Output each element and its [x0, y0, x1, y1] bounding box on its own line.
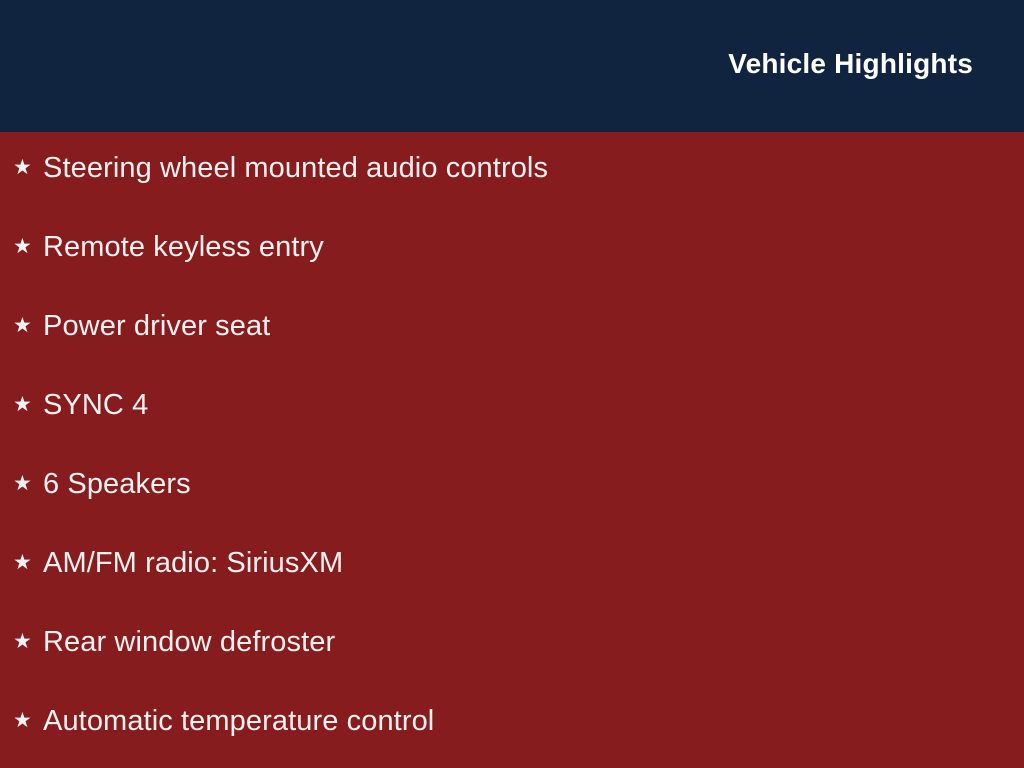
- feature-label: SYNC 4: [43, 391, 1024, 420]
- page-title: Vehicle Highlights: [728, 49, 973, 80]
- star-icon: ★: [13, 315, 43, 336]
- star-icon: ★: [13, 473, 43, 494]
- list-item: ★ Remote keyless entry: [0, 233, 1024, 312]
- vehicle-feature-list: ★ Steering wheel mounted audio controls …: [0, 154, 1024, 768]
- list-item: ★ 6 Speakers: [0, 470, 1024, 549]
- feature-label: Power driver seat: [43, 312, 1024, 341]
- star-icon: ★: [13, 710, 43, 731]
- list-item: ★ AM/FM radio: SiriusXM: [0, 549, 1024, 628]
- vehicle-highlights-slide: Vehicle Highlights ★ Steering wheel moun…: [0, 0, 1024, 768]
- slide-header: Vehicle Highlights: [0, 0, 1024, 132]
- list-item: ★ Automatic temperature control: [0, 707, 1024, 768]
- feature-label: Remote keyless entry: [43, 233, 1024, 262]
- feature-label: 6 Speakers: [43, 470, 1024, 499]
- feature-label: Rear window defroster: [43, 628, 1024, 657]
- star-icon: ★: [13, 157, 43, 178]
- star-icon: ★: [13, 394, 43, 415]
- star-icon: ★: [13, 236, 43, 257]
- list-item: ★ Steering wheel mounted audio controls: [0, 154, 1024, 233]
- list-item: ★ Power driver seat: [0, 312, 1024, 391]
- star-icon: ★: [13, 552, 43, 573]
- list-item: ★ SYNC 4: [0, 391, 1024, 470]
- feature-label: AM/FM radio: SiriusXM: [43, 549, 1024, 578]
- list-item: ★ Rear window defroster: [0, 628, 1024, 707]
- slide-body: ★ Steering wheel mounted audio controls …: [0, 132, 1024, 768]
- feature-label: Automatic temperature control: [43, 707, 1024, 736]
- feature-label: Steering wheel mounted audio controls: [43, 154, 1024, 183]
- star-icon: ★: [13, 631, 43, 652]
